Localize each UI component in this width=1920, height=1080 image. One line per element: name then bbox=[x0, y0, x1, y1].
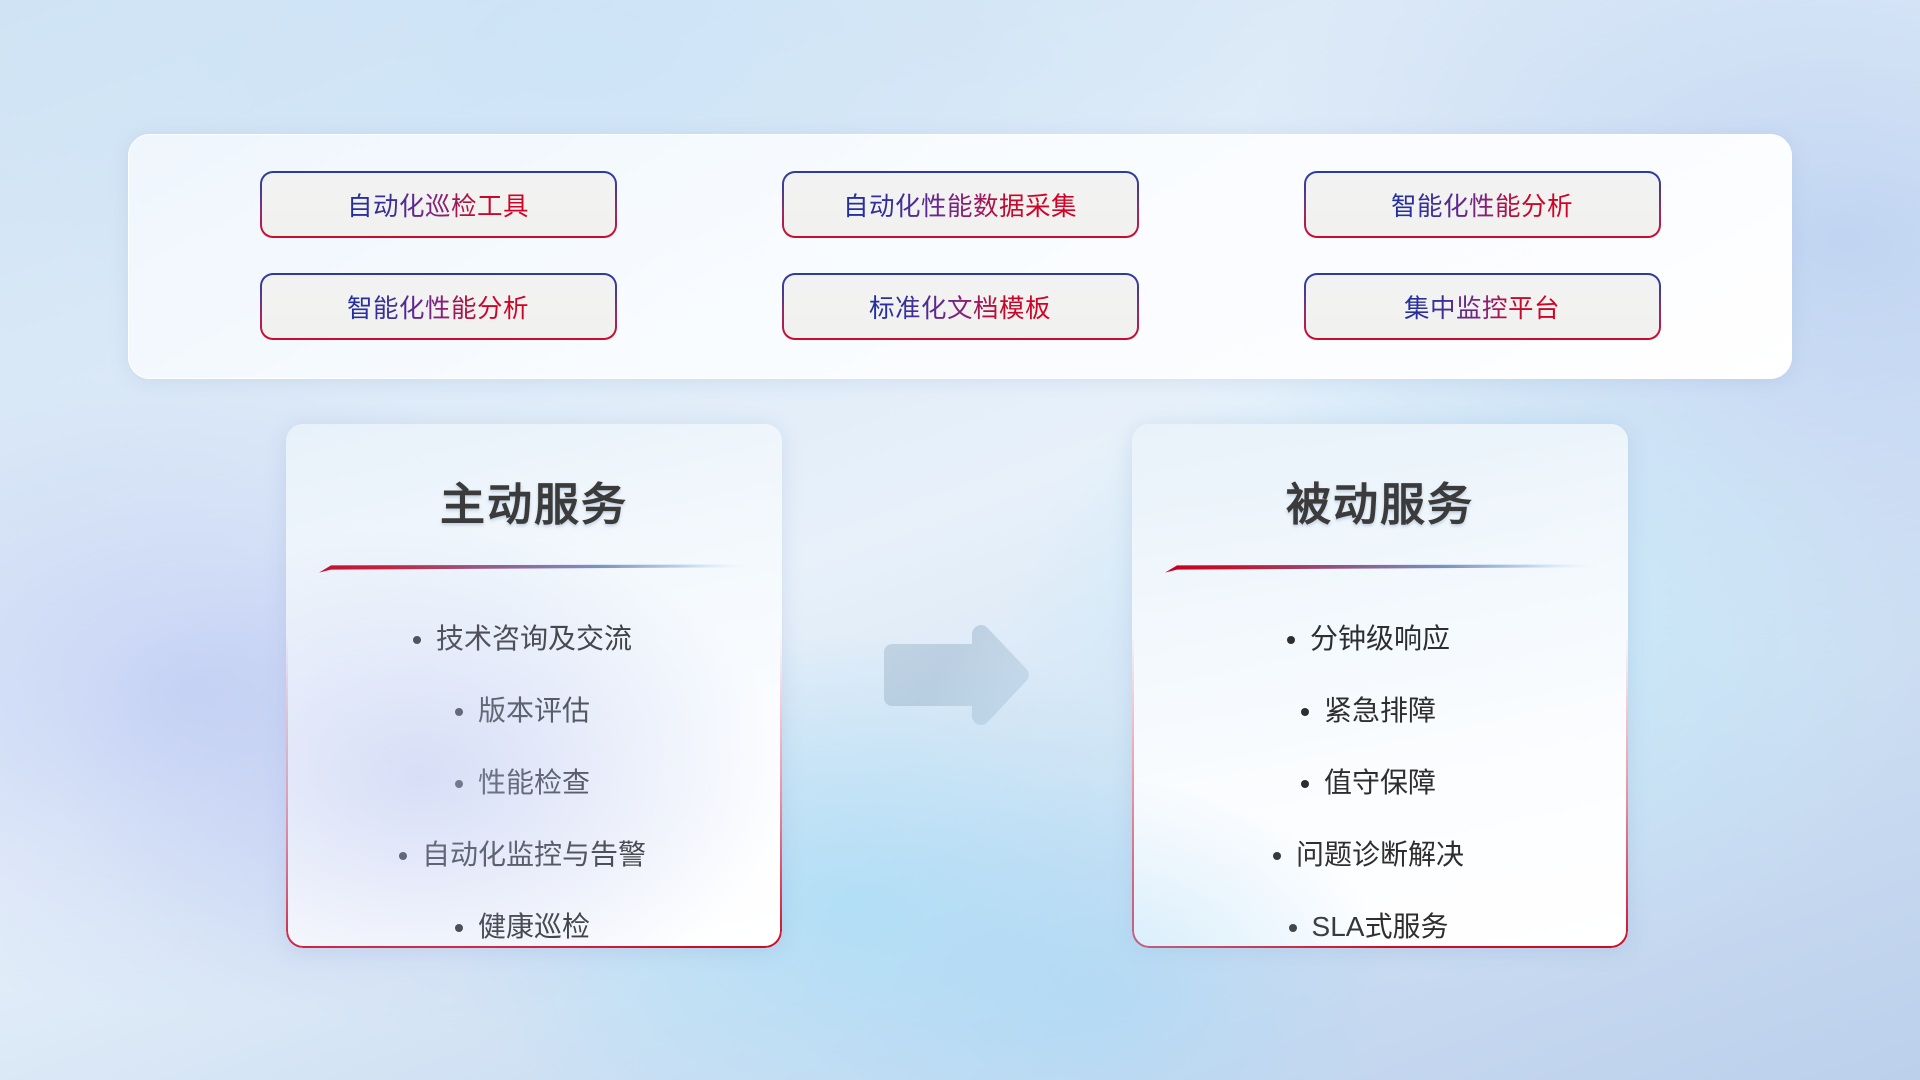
capability-chip-label: 智能化性能分析 bbox=[347, 288, 529, 325]
service-list-item: 问题诊断解决 bbox=[1296, 819, 1464, 891]
capability-chip-label: 标准化文档模板 bbox=[869, 288, 1051, 325]
capability-chip[interactable]: 集中监控平台 bbox=[1304, 273, 1661, 340]
capability-chip[interactable]: 标准化文档模板 bbox=[782, 273, 1139, 340]
capability-chip-label: 集中监控平台 bbox=[1404, 288, 1560, 325]
arrow-right-icon bbox=[876, 622, 1036, 732]
capability-chip-label: 智能化性能分析 bbox=[1391, 186, 1573, 223]
service-list-item: 紧急排障 bbox=[1324, 675, 1436, 747]
capability-chip[interactable]: 智能化性能分析 bbox=[260, 273, 617, 340]
service-list-item: 分钟级响应 bbox=[1310, 603, 1450, 675]
service-list-item: 健康巡检 bbox=[478, 891, 590, 948]
capability-chip-label: 自动化巡检工具 bbox=[347, 186, 529, 223]
service-list-item: 技术咨询及交流 bbox=[436, 603, 632, 675]
service-list-item: SLA式服务 bbox=[1312, 891, 1449, 948]
card-list-passive: 分钟级响应 紧急排障 值守保障 问题诊断解决 SLA式服务 bbox=[1132, 603, 1628, 948]
card-title-active: 主动服务 bbox=[286, 468, 782, 533]
card-divider bbox=[1165, 564, 1608, 573]
service-card-passive: 被动服务 分钟级响应 紧急排障 值守保障 bbox=[1132, 424, 1628, 948]
card-list-active: 技术咨询及交流 版本评估 性能检查 自动化监控与告警 健康巡检 bbox=[286, 603, 782, 948]
capability-chip-grid: 自动化巡检工具 自动化性能数据采集 智能化性能分析 智能化性能分析 标准化文档模… bbox=[128, 134, 1792, 379]
capability-chip[interactable]: 智能化性能分析 bbox=[1304, 171, 1661, 238]
slide-canvas: 自动化巡检工具 自动化性能数据采集 智能化性能分析 智能化性能分析 标准化文档模… bbox=[0, 0, 1920, 1080]
card-title-passive: 被动服务 bbox=[1132, 468, 1628, 533]
capability-chip[interactable]: 自动化巡检工具 bbox=[260, 171, 617, 238]
service-list-item: 性能检查 bbox=[478, 747, 590, 819]
service-list-item: 值守保障 bbox=[1324, 747, 1436, 819]
service-list-item: 版本评估 bbox=[478, 675, 590, 747]
service-list-item: 自动化监控与告警 bbox=[422, 819, 646, 891]
card-divider bbox=[319, 564, 762, 573]
capability-chip[interactable]: 自动化性能数据采集 bbox=[782, 171, 1139, 238]
service-card-active: 主动服务 技术咨询及交流 版本评估 性能检查 bbox=[286, 424, 782, 948]
capability-panel: 自动化巡检工具 自动化性能数据采集 智能化性能分析 智能化性能分析 标准化文档模… bbox=[128, 134, 1792, 379]
capability-chip-label: 自动化性能数据采集 bbox=[843, 186, 1077, 223]
